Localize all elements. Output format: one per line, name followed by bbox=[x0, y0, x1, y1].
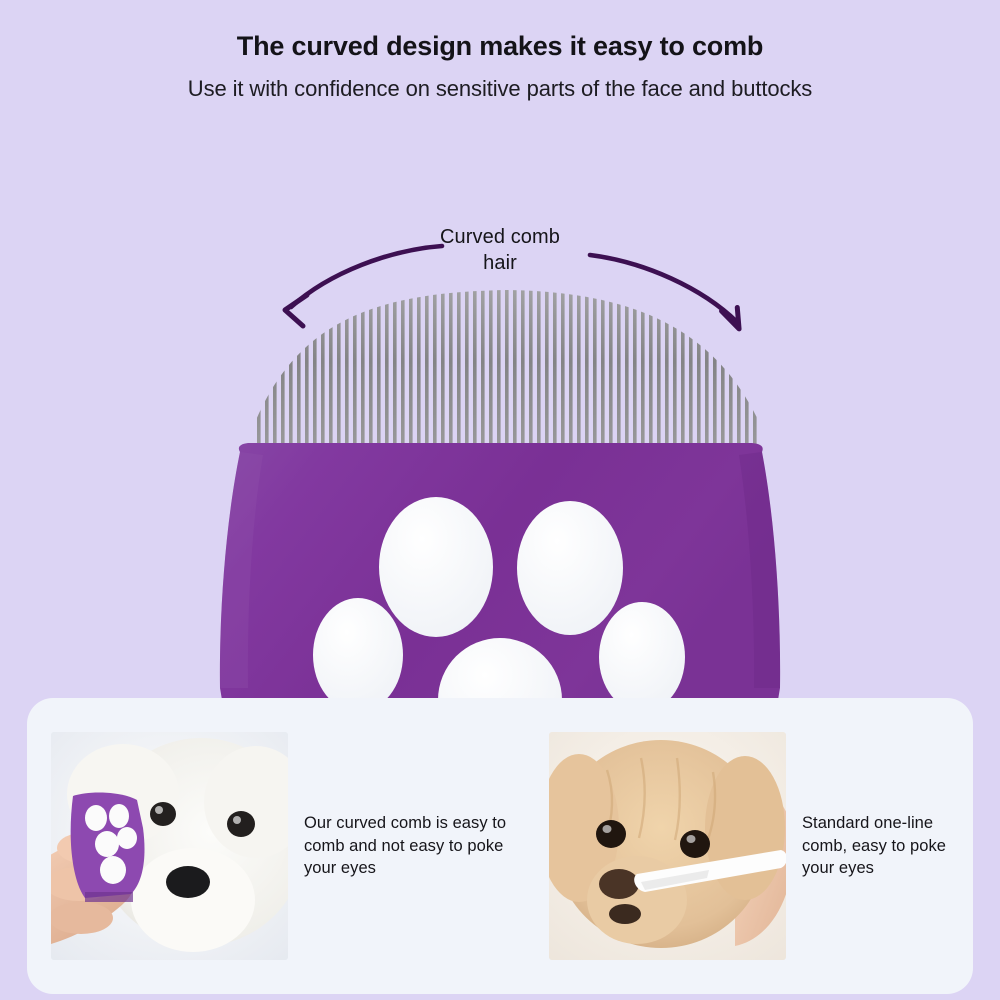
arrow-left-icon bbox=[291, 246, 442, 307]
comparison-item-curved: Our curved comb is easy to comb and not … bbox=[51, 732, 519, 960]
product-feature-banner: The curved design makes it easy to comb … bbox=[0, 0, 1000, 1000]
photo-curved-comb-on-white-dog bbox=[51, 732, 288, 960]
comparison-card: Our curved comb is easy to comb and not … bbox=[27, 698, 973, 994]
photo-straight-comb-on-tan-dog bbox=[549, 732, 786, 960]
caption-curved-comb: Our curved comb is easy to comb and not … bbox=[304, 812, 519, 880]
caption-standard-comb: Standard one-line comb, easy to poke you… bbox=[802, 812, 972, 880]
arrow-right-icon bbox=[590, 255, 737, 322]
comparison-item-standard: Standard one-line comb, easy to poke you… bbox=[549, 732, 972, 960]
